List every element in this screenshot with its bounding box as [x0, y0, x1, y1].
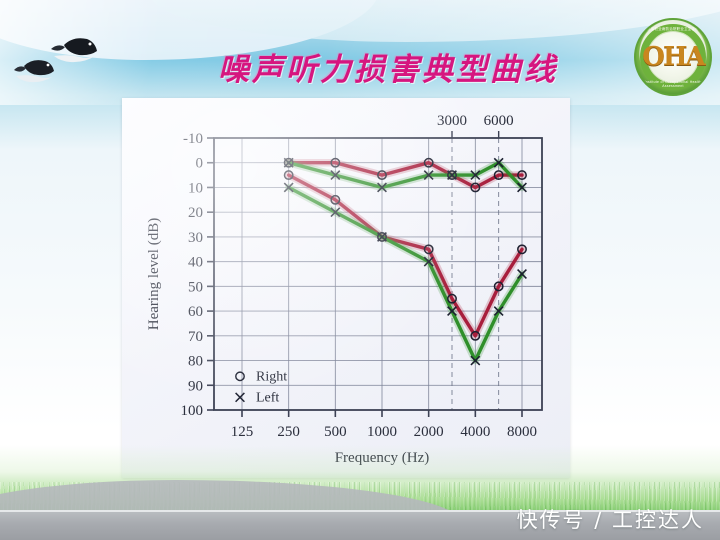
audiogram-chart-card: -100102030405060708090100125250500100020… [122, 98, 570, 478]
logo-emblem-text: OHA [642, 42, 703, 72]
y-tick-label: 80 [188, 354, 203, 370]
top-tick-label: 6000 [484, 113, 514, 129]
y-tick-label: 10 [188, 180, 203, 196]
y-tick-label: 60 [188, 304, 203, 320]
x-tick-label: 125 [231, 424, 254, 440]
audiogram-svg: -100102030405060708090100125250500100020… [122, 98, 570, 478]
y-tick-label: 50 [188, 279, 203, 295]
series-line [289, 188, 522, 361]
x-tick-label: 8000 [507, 424, 537, 440]
y-tick-label: -10 [183, 131, 203, 147]
logo-ring-bottom-text: Institute of Occupational Health Assessm… [636, 80, 710, 88]
legend-label: Left [256, 390, 279, 405]
chart-legend: RightLeft [236, 369, 288, 405]
top-tick-label: 3000 [437, 113, 467, 129]
slide-canvas: 噪声听力损害典型曲线 广东省职业病防治院职业卫生评价所 Institute of… [0, 0, 720, 540]
y-tick-label: 70 [188, 329, 203, 345]
y-tick-label: 0 [196, 156, 204, 172]
legend-marker-circle [236, 372, 244, 380]
logo-ring-top-text: 广东省职业病防治院职业卫生评价所 [636, 26, 710, 31]
x-tick-label: 2000 [414, 424, 444, 440]
x-tick-label: 500 [324, 424, 347, 440]
legend-marker-cross [236, 393, 245, 402]
legend-label: Right [256, 369, 287, 384]
x-tick-label: 250 [277, 424, 300, 440]
y-tick-label: 20 [188, 205, 203, 221]
y-tick-label: 30 [188, 230, 203, 246]
y-tick-label: 90 [188, 378, 203, 394]
title-band: 噪声听力损害典型曲线 [0, 18, 720, 88]
watermark-text: 快传号 / 工控达人 [517, 504, 704, 534]
y-tick-label: 40 [188, 255, 203, 271]
organization-logo: 广东省职业病防治院职业卫生评价所 Institute of Occupation… [634, 18, 712, 96]
y-tick-label: 100 [181, 403, 204, 419]
audiogram-plot: -100102030405060708090100125250500100020… [122, 98, 570, 478]
series-line [289, 175, 522, 336]
x-tick-label: 1000 [367, 424, 397, 440]
page-title: 噪声听力损害典型曲线 [218, 44, 638, 89]
x-tick-label: 4000 [460, 424, 490, 440]
y-axis-title: Hearing level (dB) [146, 218, 162, 330]
